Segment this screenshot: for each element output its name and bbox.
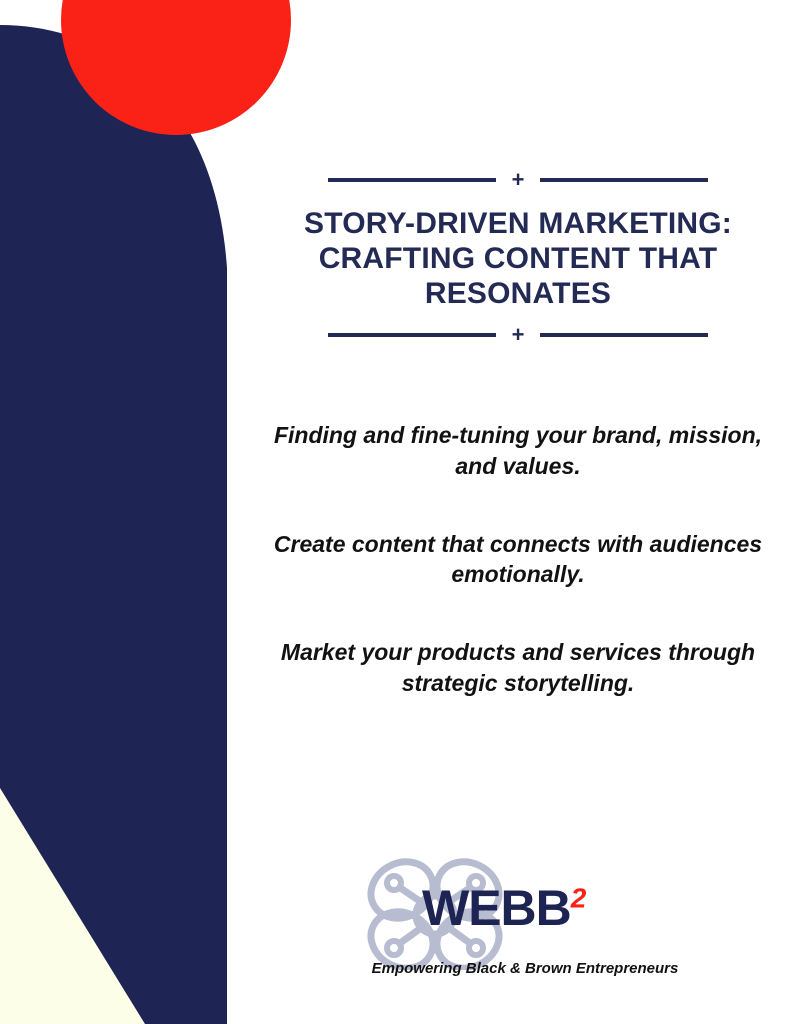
navy-blob [0,25,227,1024]
body-paragraph: Finding and fine-tuning your brand, miss… [257,420,779,482]
title-block: + STORY-DRIVEN MARKETING: CRAFTING CONTE… [245,168,791,347]
flyer-page: + STORY-DRIVEN MARKETING: CRAFTING CONTE… [0,0,791,1024]
logo-wordmark-text: WEBB [422,880,571,936]
divider-top: + [328,168,708,192]
content-column: + STORY-DRIVEN MARKETING: CRAFTING CONTE… [245,0,791,1024]
webb-logo: WEBB2 Empowering Black & Brown Entrepren… [350,855,690,995]
page-title: STORY-DRIVEN MARKETING: CRAFTING CONTENT… [245,206,791,311]
divider-rule-left [328,333,496,337]
divider-rule-left [328,178,496,182]
divider-bottom: + [328,323,708,347]
cream-triangle [0,788,145,1024]
logo-tagline: Empowering Black & Brown Entrepreneurs [360,960,690,978]
divider-rule-right [540,178,708,182]
logo-wordmark-group: WEBB2 [422,883,586,933]
plus-icon: + [496,324,541,346]
body-text-block: Finding and fine-tuning your brand, miss… [257,420,779,699]
plus-icon: + [496,169,541,191]
logo-superscript: 2 [571,882,587,913]
body-paragraph: Create content that connects with audien… [257,529,779,591]
body-paragraph: Market your products and services throug… [257,637,779,699]
divider-rule-right [540,333,708,337]
